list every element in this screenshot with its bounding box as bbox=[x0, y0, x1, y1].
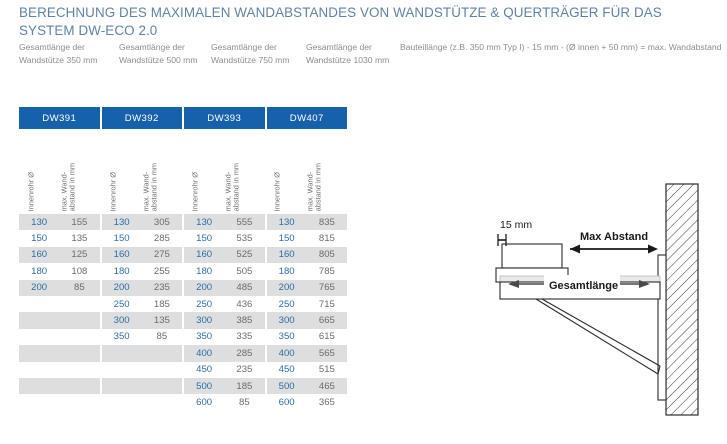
page-root: BERECHNUNG DES MAXIMALEN WANDABSTANDES V… bbox=[0, 0, 727, 444]
table-cell-group-dw407: 500465 bbox=[267, 378, 348, 394]
column-header-innenrohr-label: Innenrohr Ø bbox=[191, 172, 199, 211]
table-cell-group-dw393: 250436 bbox=[184, 296, 267, 312]
note-dw391: Gesamtlänge der Wandstütze 350 mm bbox=[19, 41, 115, 66]
cell-wandabstand: 135 bbox=[59, 230, 99, 246]
table-cell-group-dw391: 160125 bbox=[19, 247, 102, 263]
cell-wandabstand bbox=[59, 312, 99, 328]
cell-wandabstand bbox=[142, 394, 182, 410]
table-cell-group-dw407: 300665 bbox=[267, 312, 348, 328]
cell-innenrohr: 180 bbox=[267, 263, 307, 279]
cell-wandabstand: 555 bbox=[224, 214, 264, 230]
table-cell-group-dw391 bbox=[19, 312, 102, 328]
table-cell-group-dw407: 200765 bbox=[267, 280, 348, 296]
table-cell-group-dw407: 350615 bbox=[267, 329, 348, 345]
cell-innenrohr bbox=[19, 329, 59, 345]
cell-wandabstand: 785 bbox=[307, 263, 347, 279]
table-cell-group-dw391: 130155 bbox=[19, 214, 102, 230]
pipe-box bbox=[502, 244, 562, 268]
table-row: 130155130305130555130835 bbox=[19, 214, 347, 230]
table-row: 150135150285150535150815 bbox=[19, 230, 347, 246]
cell-innenrohr: 200 bbox=[102, 280, 142, 296]
table-cell-group-dw391: 20085 bbox=[19, 280, 102, 296]
cell-wandabstand: 465 bbox=[307, 378, 347, 394]
note-dw393: Gesamtlänge der Wandstütze 750 mm bbox=[211, 41, 307, 66]
table-row: 400285400565 bbox=[19, 345, 347, 361]
table-cell-group-dw407: 180785 bbox=[267, 263, 348, 279]
column-header-wandabstand: max. Wand-abstand in mm bbox=[60, 131, 101, 213]
column-header-wandabstand: max. Wand-abstand in mm bbox=[142, 131, 183, 213]
column-header-innenrohr: Innenrohr Ø bbox=[19, 131, 60, 213]
cell-wandabstand bbox=[59, 394, 99, 410]
note-formula: Bauteillänge (z.B. 350 mm Typ I) - 15 mm… bbox=[400, 41, 727, 54]
cell-wandabstand: 255 bbox=[142, 263, 182, 279]
cell-wandabstand: 125 bbox=[59, 247, 99, 263]
cell-wandabstand: 235 bbox=[142, 280, 182, 296]
table-cell-group-dw407: 130835 bbox=[267, 214, 348, 230]
column-header-wandabstand-label: max. Wand-abstand in mm bbox=[224, 163, 240, 211]
table-row: 450235450515 bbox=[19, 362, 347, 378]
table-cell-group-dw393: 130555 bbox=[184, 214, 267, 230]
column-header-innenrohr: Innenrohr Ø bbox=[183, 131, 224, 213]
table-cell-group-dw392: 250185 bbox=[102, 296, 185, 312]
table-cell-group-dw392: 300135 bbox=[102, 312, 185, 328]
group-header-dw393: DW393 bbox=[184, 107, 267, 129]
column-header-wandabstand-label: max. Wand-abstand in mm bbox=[306, 163, 322, 211]
cell-wandabstand: 275 bbox=[142, 247, 182, 263]
table-cell-group-dw407: 150815 bbox=[267, 230, 348, 246]
column-header-wandabstand-line2: abstand in mm bbox=[232, 163, 240, 211]
table-cell-group-dw391 bbox=[19, 345, 102, 361]
column-header-wandabstand: max. Wand-abstand in mm bbox=[224, 131, 265, 213]
cell-innenrohr: 450 bbox=[184, 362, 224, 378]
table-cell-group-dw391: 150135 bbox=[19, 230, 102, 246]
cell-innenrohr: 500 bbox=[267, 378, 307, 394]
cell-wandabstand bbox=[142, 378, 182, 394]
cell-wandabstand bbox=[142, 345, 182, 361]
table-column-header-row: Innenrohr Ømax. Wand-abstand in mmInnenr… bbox=[19, 131, 347, 213]
cell-innenrohr bbox=[102, 378, 142, 394]
cell-wandabstand: 135 bbox=[142, 312, 182, 328]
column-header-wandabstand-line2: abstand in mm bbox=[150, 163, 158, 211]
table-cell-group-dw393: 400285 bbox=[184, 345, 267, 361]
cell-innenrohr: 400 bbox=[267, 345, 307, 361]
label-15mm: 15 mm bbox=[500, 219, 532, 231]
cell-wandabstand: 365 bbox=[307, 394, 347, 410]
table-group-header-row: DW391 DW392 DW393 DW407 bbox=[19, 107, 347, 129]
column-header-group-dw392: Innenrohr Ømax. Wand-abstand in mm bbox=[101, 131, 183, 213]
table-cell-group-dw407: 450515 bbox=[267, 362, 348, 378]
cell-wandabstand bbox=[59, 362, 99, 378]
cell-wandabstand bbox=[59, 345, 99, 361]
cell-innenrohr: 200 bbox=[267, 280, 307, 296]
cell-innenrohr: 150 bbox=[102, 230, 142, 246]
cell-wandabstand: 565 bbox=[307, 345, 347, 361]
wall-bracket-diagram: 15 mm Max Abstand Gesamtlänge bbox=[470, 170, 727, 420]
group-header-dw392: DW392 bbox=[102, 107, 185, 129]
group-header-dw391: DW391 bbox=[19, 107, 102, 129]
cell-wandabstand: 185 bbox=[224, 378, 264, 394]
table-row: 180108180255180505180785 bbox=[19, 263, 347, 279]
cell-wandabstand: 108 bbox=[59, 263, 99, 279]
column-header-group-dw393: Innenrohr Ømax. Wand-abstand in mm bbox=[183, 131, 265, 213]
cell-innenrohr: 300 bbox=[102, 312, 142, 328]
column-header-wandabstand-label: max. Wand-abstand in mm bbox=[60, 163, 76, 211]
table-cell-group-dw393: 200485 bbox=[184, 280, 267, 296]
cell-wandabstand: 85 bbox=[142, 329, 182, 345]
cell-wandabstand: 285 bbox=[224, 345, 264, 361]
table-cell-group-dw393: 450235 bbox=[184, 362, 267, 378]
cell-innenrohr bbox=[19, 394, 59, 410]
cell-wandabstand: 85 bbox=[224, 394, 264, 410]
group-header-dw407: DW407 bbox=[267, 107, 348, 129]
label-gesamtlaenge: Gesamtlänge bbox=[549, 280, 618, 292]
table-cell-group-dw393: 160525 bbox=[184, 247, 267, 263]
table-cell-group-dw391 bbox=[19, 394, 102, 410]
cell-innenrohr bbox=[102, 345, 142, 361]
table-cell-group-dw407: 160805 bbox=[267, 247, 348, 263]
cell-innenrohr: 300 bbox=[267, 312, 307, 328]
cell-wandabstand: 535 bbox=[224, 230, 264, 246]
max-distance-arrow bbox=[570, 245, 658, 254]
cell-innenrohr bbox=[19, 345, 59, 361]
cell-innenrohr bbox=[19, 312, 59, 328]
table-cell-group-dw407: 600365 bbox=[267, 394, 348, 410]
cell-wandabstand: 765 bbox=[307, 280, 347, 296]
note-dw392: Gesamtlänge der Wandstütze 500 mm bbox=[119, 41, 215, 66]
table-row: 250185250436250715 bbox=[19, 296, 347, 312]
cell-wandabstand: 235 bbox=[224, 362, 264, 378]
table-cell-group-dw392 bbox=[102, 378, 185, 394]
table-cell-group-dw391: 180108 bbox=[19, 263, 102, 279]
table-cell-group-dw392 bbox=[102, 394, 185, 410]
cell-innenrohr: 130 bbox=[102, 214, 142, 230]
table-cell-group-dw392: 35085 bbox=[102, 329, 185, 345]
cell-innenrohr: 160 bbox=[102, 247, 142, 263]
cell-innenrohr bbox=[102, 394, 142, 410]
column-header-wandabstand-label: max. Wand-abstand in mm bbox=[142, 163, 158, 211]
table-cell-group-dw392: 150285 bbox=[102, 230, 185, 246]
cell-innenrohr: 250 bbox=[267, 296, 307, 312]
cell-innenrohr bbox=[19, 378, 59, 394]
cell-wandabstand bbox=[59, 296, 99, 312]
table-row: 160125160275160525160805 bbox=[19, 247, 347, 263]
cell-innenrohr: 350 bbox=[184, 329, 224, 345]
column-header-innenrohr: Innenrohr Ø bbox=[265, 131, 306, 213]
cell-innenrohr: 250 bbox=[184, 296, 224, 312]
table-cell-group-dw392: 180255 bbox=[102, 263, 185, 279]
cell-innenrohr: 200 bbox=[19, 280, 59, 296]
column-header-group-dw407: Innenrohr Ømax. Wand-abstand in mm bbox=[265, 131, 347, 213]
cell-wandabstand: 485 bbox=[224, 280, 264, 296]
table-cell-group-dw391 bbox=[19, 329, 102, 345]
table-body: 1301551303051305551308351501351502851505… bbox=[19, 214, 347, 411]
table-cell-group-dw391 bbox=[19, 362, 102, 378]
cell-wandabstand: 335 bbox=[224, 329, 264, 345]
table-row: 60085600365 bbox=[19, 394, 347, 410]
wall-distance-table: DW391 DW392 DW393 DW407 Innenrohr Ømax. … bbox=[19, 107, 347, 411]
table-cell-group-dw391 bbox=[19, 296, 102, 312]
cell-wandabstand: 185 bbox=[142, 296, 182, 312]
cell-wandabstand: 155 bbox=[59, 214, 99, 230]
table-row: 20085200235200485200765 bbox=[19, 280, 347, 296]
cell-innenrohr: 600 bbox=[184, 394, 224, 410]
table-row: 300135300385300665 bbox=[19, 312, 347, 328]
cell-innenrohr: 250 bbox=[102, 296, 142, 312]
cell-innenrohr: 600 bbox=[267, 394, 307, 410]
cell-innenrohr: 150 bbox=[19, 230, 59, 246]
table-row: 35085350335350615 bbox=[19, 329, 347, 345]
cell-innenrohr: 150 bbox=[267, 230, 307, 246]
table-cell-group-dw392: 160275 bbox=[102, 247, 185, 263]
column-header-wandabstand-line2: abstand in mm bbox=[314, 163, 322, 211]
cell-wandabstand: 85 bbox=[59, 280, 99, 296]
table-cell-group-dw407: 400565 bbox=[267, 345, 348, 361]
cell-innenrohr: 350 bbox=[267, 329, 307, 345]
cell-wandabstand: 385 bbox=[224, 312, 264, 328]
cell-wandabstand: 715 bbox=[307, 296, 347, 312]
column-header-group-dw391: Innenrohr Ømax. Wand-abstand in mm bbox=[19, 131, 101, 213]
column-header-wandabstand: max. Wand-abstand in mm bbox=[306, 131, 347, 213]
table-cell-group-dw392: 200235 bbox=[102, 280, 185, 296]
cell-innenrohr: 180 bbox=[102, 263, 142, 279]
cell-innenrohr: 160 bbox=[184, 247, 224, 263]
cell-wandabstand bbox=[59, 378, 99, 394]
label-max-abstand: Max Abstand bbox=[580, 231, 648, 243]
cell-innenrohr: 180 bbox=[184, 263, 224, 279]
table-cell-group-dw393: 150535 bbox=[184, 230, 267, 246]
cell-innenrohr: 130 bbox=[19, 214, 59, 230]
cell-wandabstand bbox=[142, 362, 182, 378]
table-cell-group-dw392 bbox=[102, 362, 185, 378]
page-title: BERECHNUNG DES MAXIMALEN WANDABSTANDES V… bbox=[19, 4, 709, 40]
table-cell-group-dw392: 130305 bbox=[102, 214, 185, 230]
cell-innenrohr: 200 bbox=[184, 280, 224, 296]
table-cell-group-dw393: 500185 bbox=[184, 378, 267, 394]
cell-innenrohr: 300 bbox=[184, 312, 224, 328]
table-cell-group-dw393: 180505 bbox=[184, 263, 267, 279]
cell-innenrohr bbox=[19, 296, 59, 312]
diagonal-brace bbox=[536, 299, 660, 374]
note-row: Gesamtlänge der Wandstütze 350 mm Gesamt… bbox=[19, 41, 719, 87]
table-cell-group-dw393: 350335 bbox=[184, 329, 267, 345]
cell-wandabstand bbox=[59, 329, 99, 345]
cell-innenrohr: 450 bbox=[267, 362, 307, 378]
table-cell-group-dw391 bbox=[19, 378, 102, 394]
cell-innenrohr: 500 bbox=[184, 378, 224, 394]
cell-innenrohr bbox=[102, 362, 142, 378]
cell-innenrohr: 150 bbox=[184, 230, 224, 246]
wall-shape bbox=[666, 184, 698, 415]
column-header-innenrohr: Innenrohr Ø bbox=[101, 131, 142, 213]
column-header-innenrohr-label: Innenrohr Ø bbox=[109, 172, 117, 211]
cell-wandabstand: 525 bbox=[224, 247, 264, 263]
column-header-wandabstand-line2: abstand in mm bbox=[68, 163, 76, 211]
cell-innenrohr: 130 bbox=[184, 214, 224, 230]
table-cell-group-dw393: 60085 bbox=[184, 394, 267, 410]
cell-wandabstand: 805 bbox=[307, 247, 347, 263]
table-cell-group-dw393: 300385 bbox=[184, 312, 267, 328]
cell-wandabstand: 436 bbox=[224, 296, 264, 312]
column-header-innenrohr-label: Innenrohr Ø bbox=[27, 172, 35, 211]
cell-innenrohr: 160 bbox=[267, 247, 307, 263]
cell-wandabstand: 835 bbox=[307, 214, 347, 230]
cell-innenrohr: 160 bbox=[19, 247, 59, 263]
cell-wandabstand: 285 bbox=[142, 230, 182, 246]
note-dw407: Gesamtlänge der Wandstütze 1030 mm bbox=[306, 41, 402, 66]
cell-wandabstand: 515 bbox=[307, 362, 347, 378]
cell-wandabstand: 305 bbox=[142, 214, 182, 230]
cell-wandabstand: 665 bbox=[307, 312, 347, 328]
cell-wandabstand: 615 bbox=[307, 329, 347, 345]
cell-innenrohr: 180 bbox=[19, 263, 59, 279]
table-row: 500185500465 bbox=[19, 378, 347, 394]
table-cell-group-dw392 bbox=[102, 345, 185, 361]
column-header-innenrohr-label: Innenrohr Ø bbox=[273, 172, 281, 211]
table-cell-group-dw407: 250715 bbox=[267, 296, 348, 312]
cell-innenrohr: 130 bbox=[267, 214, 307, 230]
cell-innenrohr: 400 bbox=[184, 345, 224, 361]
cell-innenrohr bbox=[19, 362, 59, 378]
cell-wandabstand: 815 bbox=[307, 230, 347, 246]
cell-wandabstand: 505 bbox=[224, 263, 264, 279]
cell-innenrohr: 350 bbox=[102, 329, 142, 345]
